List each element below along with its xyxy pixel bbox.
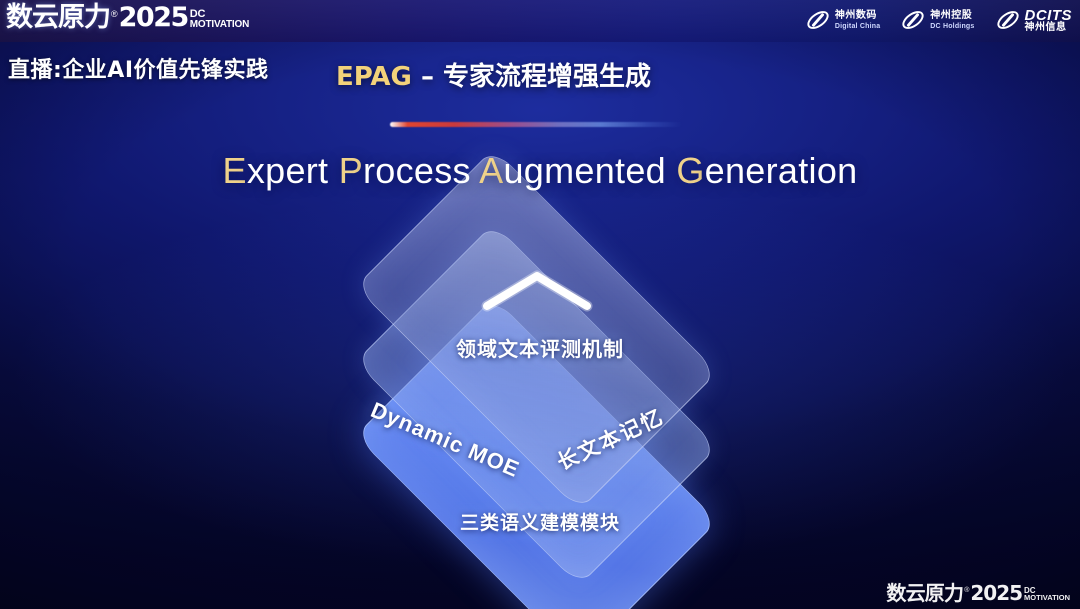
brand-dc-line1: DC [190,9,249,19]
footer-watermark: 数云原力 ® 2025 DC MOTIVATION [886,583,1070,603]
stack-layer-top-plate [355,148,718,511]
epag-dash: – [412,62,443,92]
logo-dcits-text: DCITS 神州信息 [1025,8,1073,33]
slide-canvas: 数云原力 ® 2025 DC MOTIVATION 神州数码 Digital C… [0,0,1080,609]
word-3-initial: A [479,150,503,191]
brand-name-cn: 数云原力 [6,4,110,31]
logo-digital-china: 神州数码 Digital China [805,7,880,33]
brand-registered-mark: ® [111,10,118,19]
logo-label-cn: 神州控股 [930,11,974,21]
logo-dcits: DCITS 神州信息 [995,7,1073,33]
brand-lockup: 数云原力 ® 2025 DC MOTIVATION [6,4,249,31]
word-4-rest: eneration [705,150,858,191]
logo-label-en: DC Holdings [930,23,974,30]
word-4-initial: G [676,150,704,191]
logo-label-en: Digital China [835,23,880,30]
watermark-year: 2025 [970,583,1022,603]
word-3-rest: ugmented [503,150,666,191]
epag-full-english-title: Expert Process Augmented Generation [0,150,1080,192]
word-2-initial: P [339,150,363,191]
logo-dc-holdings-text: 神州控股 DC Holdings [930,11,974,30]
logo-dc-holdings: 神州控股 DC Holdings [900,7,974,33]
brand-year: 2025 [119,4,188,31]
watermark-dc-line2: MOTIVATION [1024,594,1070,602]
logo-label-cn: 神州数码 [835,11,880,21]
spiral-logo-icon [995,7,1021,33]
stack-layer-top-label: 领域文本评测机制 [0,333,1080,362]
watermark-registered-mark: ® [964,587,969,594]
partner-logo-group: 神州数码 Digital China 神州控股 DC Holdings DCIT… [805,7,1072,33]
spiral-logo-icon [805,7,831,33]
word-1-initial: E [223,150,247,191]
brand-dc-motivation: DC MOTIVATION [190,9,249,30]
word-1-rest: xpert [247,150,329,191]
epag-headline: EPAG – 专家流程增强生成 [336,56,651,93]
spiral-logo-icon [900,7,926,33]
logo-digital-china-text: 神州数码 Digital China [835,11,880,30]
logo-label-cn: 神州信息 [1025,23,1073,33]
chevron-up-icon [481,268,593,312]
stack-layer-bottom-label: 三类语义建模模块 [0,508,1080,535]
logo-label-en: DCITS [1025,8,1073,23]
epag-abbreviation: EPAG [336,62,412,92]
gradient-divider [390,122,682,127]
word-2-rest: rocess [363,150,471,191]
watermark-dc-motivation: DC MOTIVATION [1024,587,1070,602]
brand-dc-line2: MOTIVATION [190,19,249,30]
live-stream-title: 直播:企业AI价值先锋实践 [8,52,269,84]
watermark-name-cn: 数云原力 [886,583,963,603]
epag-chinese-expansion: 专家流程增强生成 [443,62,651,92]
